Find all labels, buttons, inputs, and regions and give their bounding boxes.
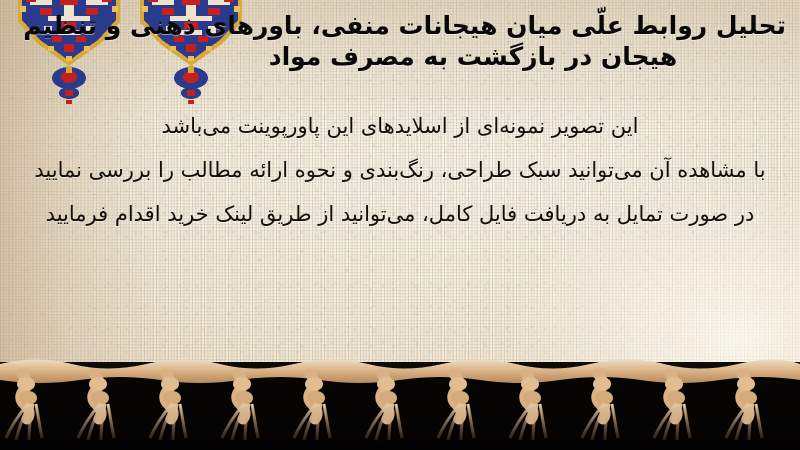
body-line-1: این تصویر نمونه‌ای از اسلایدهای این پاور… xyxy=(28,104,772,148)
carpet-knotted-fringe-icon xyxy=(0,340,800,450)
body-line-2: با مشاهده آن می‌توانید سبک طراحی، رنگ‌بن… xyxy=(28,148,772,192)
body-line-3: در صورت تمایل به دریافت فایل کامل، می‌تو… xyxy=(28,192,772,236)
slide-title-line-1: تحلیل روابط علّی میان هیجانات منفی، باور… xyxy=(216,10,786,41)
slide-title-line-2: هیجان در بازگشت به مصرف مواد xyxy=(216,41,786,72)
carpet-fringe-zone xyxy=(0,340,800,450)
slide-body-text: این تصویر نمونه‌ای از اسلایدهای این پاور… xyxy=(28,104,772,236)
presentation-slide: تحلیل روابط علّی میان هیجانات منفی، باور… xyxy=(0,0,800,450)
slide-title: تحلیل روابط علّی میان هیجانات منفی، باور… xyxy=(216,10,786,72)
